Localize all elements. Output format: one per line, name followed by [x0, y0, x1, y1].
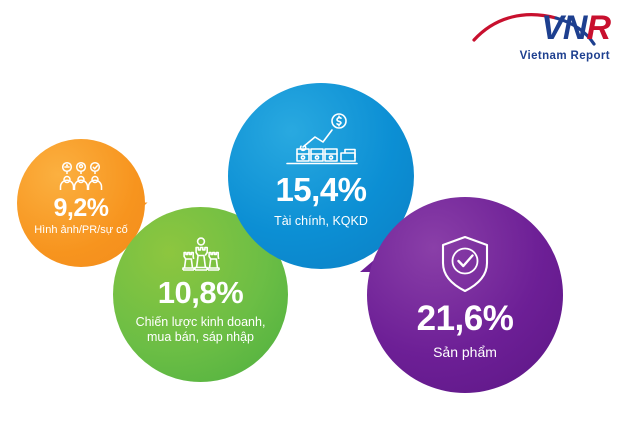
bubble-green-label-line2: mua bán, sáp nhập: [147, 330, 254, 344]
logo-tagline: Vietnam Report: [470, 50, 610, 62]
bubble-purple-value: 21,6%: [367, 301, 563, 338]
vietnam-report-logo: VNR Vietnam Report: [470, 8, 610, 70]
bubble-blue-label: Tài chính, KQKD: [228, 214, 414, 229]
bubble-green-content: 10,8% Chiến lược kinh doanh, mua bán, sá…: [113, 234, 288, 345]
bubble-orange-content: 9,2% Hình ảnh/PR/sự cố: [17, 161, 145, 238]
logo-r-text: R: [586, 9, 610, 47]
bubble-blue-content: 15,4% Tài chính, KQKD: [228, 113, 414, 229]
bubble-green-label: Chiến lược kinh doanh, mua bán, sáp nhập: [113, 315, 288, 346]
logo-vn-text: VN: [541, 9, 586, 47]
bubble-purple-label: Sản phẩm: [367, 344, 563, 361]
logo-mark: VNR: [470, 8, 610, 50]
people-pin-icon: [54, 161, 108, 191]
chess-rook-icon: [172, 234, 230, 272]
bubble-purple-content: 21,6% Sản phẩm: [367, 233, 563, 361]
bubble-product[interactable]: 21,6% Sản phẩm: [367, 197, 563, 393]
bubble-orange-value: 9,2%: [17, 195, 145, 221]
logo-wordmark: VNR: [470, 8, 610, 48]
money-chart-icon: [277, 113, 365, 169]
shield-check-icon: [437, 233, 493, 295]
bubble-blue-value: 15,4%: [228, 173, 414, 208]
infographic-canvas: VNR Vietnam Report: [0, 0, 624, 441]
bubble-green-label-line1: Chiến lược kinh doanh,: [136, 315, 266, 329]
bubble-green-value: 10,8%: [113, 277, 288, 310]
